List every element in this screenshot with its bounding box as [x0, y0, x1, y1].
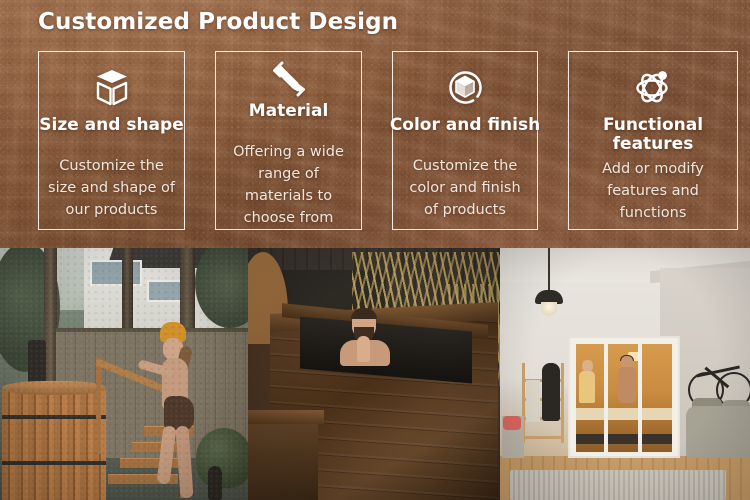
feature-card-material[interactable]: Material Offering a wide range of materi…	[215, 51, 362, 230]
feature-card-color-and-finish[interactable]: Color and finish Customize the color and…	[392, 51, 538, 230]
feature-card-title: Functional features	[593, 116, 713, 154]
feature-card-description: Add or modify features and functions	[583, 158, 723, 224]
photo-vignette	[0, 248, 248, 500]
feature-card-row: Size and shape Customize the size and sh…	[0, 51, 750, 230]
cube-in-circle-icon	[443, 56, 487, 118]
feature-card-size-and-shape[interactable]: Size and shape Customize the size and sh…	[38, 51, 185, 230]
photo-strip	[0, 248, 750, 500]
photo-vignette	[500, 248, 750, 500]
photo-vignette	[248, 248, 500, 500]
cube-open-box-icon	[90, 56, 134, 118]
feature-card-title: Size and shape	[39, 116, 183, 135]
indoor-glass-sauna-photo	[500, 248, 750, 500]
outdoor-cedar-barrel-plunge-photo	[0, 248, 248, 500]
feature-card-description: Offering a wide range of materials to ch…	[225, 141, 353, 229]
feature-card-description: Customize the size and shape of our prod…	[48, 155, 176, 221]
dark-wood-rectangular-plunge-photo	[248, 248, 500, 500]
atom-icon	[631, 56, 675, 118]
product-design-page: Customized Product Design Size and shape…	[0, 0, 750, 500]
feature-card-title: Material	[249, 102, 329, 121]
page-title: Customized Product Design	[38, 9, 398, 35]
feature-card-functional-features[interactable]: Functional features Add or modify featur…	[568, 51, 738, 230]
pencil-ruler-icon	[267, 56, 311, 104]
feature-card-description: Customize the color and finish of produc…	[401, 155, 529, 221]
feature-card-title: Color and finish	[390, 116, 540, 135]
